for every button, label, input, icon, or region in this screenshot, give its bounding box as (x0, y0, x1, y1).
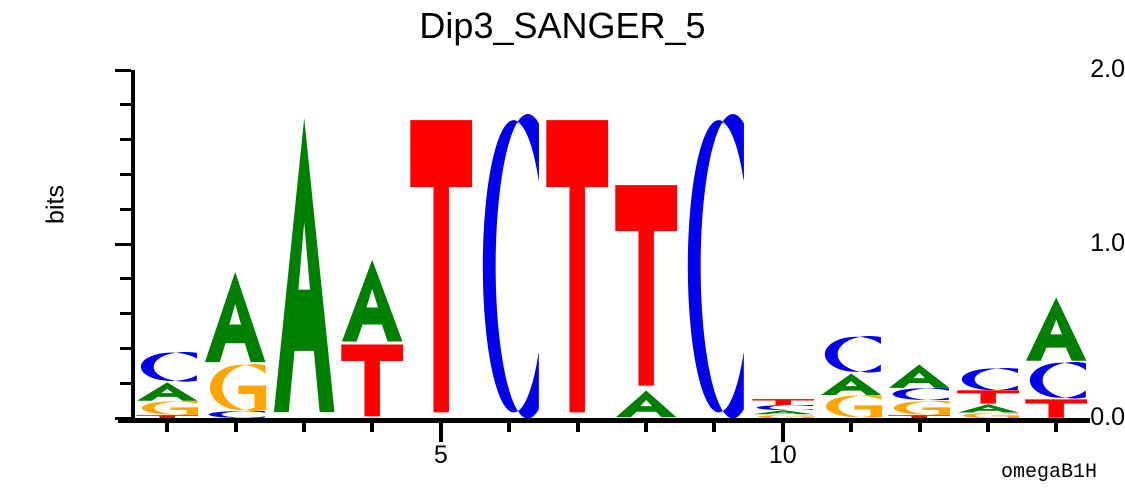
logo-stack (477, 114, 541, 419)
logo-letter-g (135, 401, 199, 415)
logo-letter-c (203, 411, 267, 418)
logo-letter-t (956, 390, 1020, 404)
logo-stack (272, 112, 336, 418)
logo-letter-a (819, 373, 883, 396)
logo-letter-g (203, 364, 267, 411)
logo-letter-c (682, 114, 746, 419)
logo-letter-t (409, 114, 473, 419)
logo-letter-a (135, 382, 199, 401)
logo-stack (682, 114, 746, 419)
logo-stack (203, 270, 267, 418)
logo-letter-g (956, 413, 1020, 418)
logo-letter-g (751, 415, 815, 418)
logo-letter-a (614, 390, 678, 418)
logo-letter-c (1024, 362, 1088, 399)
logo-letter-a (272, 112, 336, 418)
sequence-logo-chart: Dip3_SANGER_5 bits 0.01.02.0 510 omegaB1… (0, 0, 1125, 496)
logo-letter-c (956, 368, 1020, 391)
logo-stack (409, 114, 473, 419)
logo-stack (956, 368, 1020, 418)
logo-letter-t (614, 181, 678, 390)
logo-letter-g (887, 401, 951, 415)
logo-stack (135, 352, 199, 418)
logo-letter-a (203, 270, 267, 364)
logo-stack (1024, 296, 1088, 418)
logo-letter-t (340, 343, 404, 418)
logo-stack (819, 336, 883, 418)
dataset-source-label: omegaB1H (1001, 461, 1097, 484)
logo-letter-a (887, 364, 951, 388)
logo-stack (751, 399, 815, 418)
logo-stack (340, 258, 404, 418)
logo-stack (614, 181, 678, 418)
logo-letter-t (1024, 399, 1088, 418)
logo-letter-t (545, 114, 609, 419)
logo-stack (887, 364, 951, 418)
logo-letter-a (340, 258, 404, 343)
logo-letter-c (135, 352, 199, 382)
logo-stack (545, 114, 609, 419)
logo-letter-a (1024, 296, 1088, 362)
logo-stacks (0, 0, 1125, 496)
logo-letter-g (819, 395, 883, 418)
logo-letter-c (887, 388, 951, 400)
logo-letter-a (956, 404, 1020, 413)
logo-letter-c (819, 336, 883, 373)
logo-letter-t (135, 415, 199, 418)
logo-letter-c (477, 114, 541, 419)
logo-letter-t (887, 415, 951, 418)
